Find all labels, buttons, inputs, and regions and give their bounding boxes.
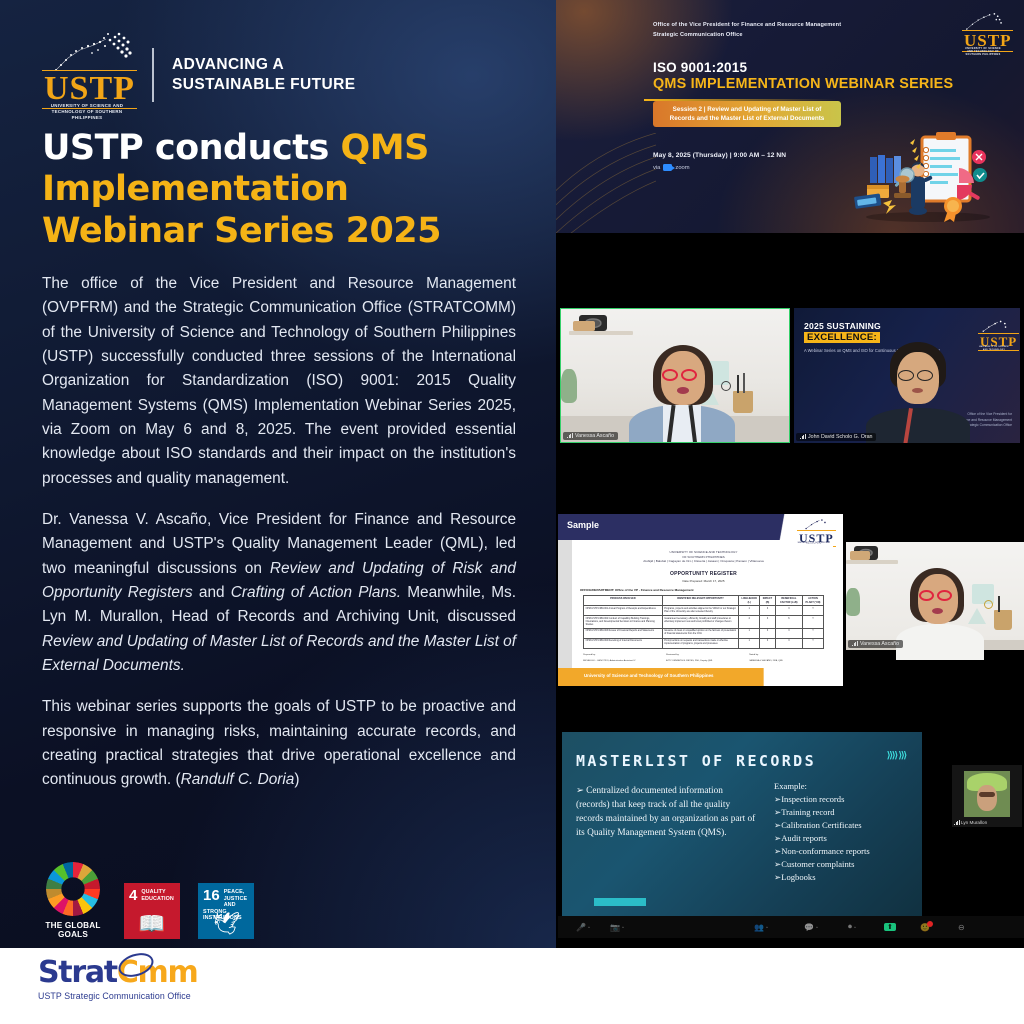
cell: 3 xyxy=(760,606,775,616)
shelf-prop xyxy=(569,331,633,335)
stratcomm-strat: Strat xyxy=(38,955,117,990)
speaker-3-torso xyxy=(896,624,984,660)
sign-noted-name: VANESSA V. ASCAÑO, DPA, QML xyxy=(749,660,783,662)
cell: Y xyxy=(803,638,824,648)
zoom-controls-bar[interactable]: 🎤^ 📷^ 👥^ 💬^ ⏺^ ⬆ 🙂 ⊖ xyxy=(558,916,1024,938)
cell: Y xyxy=(803,628,824,638)
poster-platform: via zoom xyxy=(653,164,690,171)
cell: Y xyxy=(803,606,824,616)
speaker-3-glasses xyxy=(919,590,952,601)
record-control[interactable]: ⏺^ xyxy=(848,922,856,932)
poster-via-label: via xyxy=(653,165,660,171)
col-1: IDENTIFIED RELEVANT OPPORTUNITY xyxy=(662,595,738,605)
video-thumb-lyn-murallon[interactable]: Lyn Murallon xyxy=(952,765,1022,827)
cell: Programs, projects and activities aligne… xyxy=(662,606,738,616)
signal-icon xyxy=(567,433,572,438)
cell: 6 xyxy=(775,616,802,629)
sign-prepared: Prepared by:MICHELLE L. GENOTIVO, Admini… xyxy=(583,654,658,664)
dove-gavel-icon: 🕊 xyxy=(198,913,254,935)
speaker-2-mouth xyxy=(912,388,923,393)
masterlist-examples: Example: ➢Inspection records ➢Training r… xyxy=(774,780,914,885)
speaker-3-figure xyxy=(890,566,988,654)
doc-title: OPPORTUNITY REGISTER xyxy=(574,571,833,577)
article-panel: USTP UNIVERSITY OF SCIENCE AND TECHNOLOG… xyxy=(0,0,556,948)
sdg-logo-row: THE GLOBAL GOALS 4 QUALITY EDUCATION 📖 1… xyxy=(40,862,254,939)
masterlist-title: MASTERLIST OF RECORDS xyxy=(576,752,816,770)
speaker-1-figure xyxy=(627,339,737,443)
sdg-goal-16-tile: 16 PEACE, JUSTICE AND STRONG INSTITUTION… xyxy=(198,883,254,939)
p2-text-2: and xyxy=(193,584,231,601)
notification-badge xyxy=(927,921,933,927)
ustp-brand-lockup: USTP UNIVERSITY OF SCIENCE AND TECHNOLOG… xyxy=(40,30,355,120)
table-row: OPM-USTP-FRM-003 Review of Financial Rep… xyxy=(584,628,824,638)
sdg-wheel-icon xyxy=(46,862,100,916)
chat-icon[interactable]: 💬 xyxy=(804,923,814,932)
sign-prepared-name: MICHELLE L. GENOTIVO, Administrative Ass… xyxy=(583,660,635,662)
slide-footer-band: University of Science and Technology of … xyxy=(558,668,843,686)
slide-footer-text: University of Science and Technology of … xyxy=(584,673,713,678)
brand-divider xyxy=(152,48,154,102)
stratcomm-subtitle: USTP Strategic Communication Office xyxy=(38,991,197,1001)
sdg-goal-4-tile: 4 QUALITY EDUCATION 📖 xyxy=(124,883,180,939)
doc-subtitle: Date Prepared: March 17, 2025 xyxy=(574,579,833,583)
example-item: ➢Calibration Certificates xyxy=(774,819,914,832)
contact-footer: StratCmm USTP Strategic Communication Of… xyxy=(0,948,1024,1024)
sign-reviewed-name: ATTY. KENNETH B. REYES, PhD, Deputy QML xyxy=(666,660,712,662)
speaker-1-name-badge: Vanessa Ascaño xyxy=(563,432,618,441)
poster-title: QMS IMPLEMENTATION WEBINAR SERIES xyxy=(653,76,953,92)
example-item: ➢Audit reports xyxy=(774,832,914,845)
cell: 3 xyxy=(760,638,775,648)
cell: Y xyxy=(803,616,824,629)
sign-prepared-label: Prepared by: xyxy=(583,654,596,656)
thumb-face xyxy=(977,785,997,811)
camera-off-icon[interactable]: 📷 xyxy=(610,923,620,932)
video-tile-speaker-2[interactable]: 2025 SUSTAINING EXCELLENCE: A Webinar Se… xyxy=(794,308,1020,443)
headline-white: USTP conducts xyxy=(42,128,341,168)
speaker-2-name-badge: John David Scholo G. Oran xyxy=(796,433,876,442)
share-screen-button[interactable]: ⬆ xyxy=(884,923,896,931)
cell: 1 xyxy=(739,628,760,638)
poster-session-badge: Session 2 | Review and Updating of Maste… xyxy=(653,101,841,127)
chat-control[interactable]: 💬^ xyxy=(804,923,818,932)
mute-control[interactable]: 🎤^ xyxy=(576,923,590,932)
infographic-page: USTP UNIVERSITY OF SCIENCE AND TECHNOLOG… xyxy=(0,0,1024,1024)
poster-kicker-2: Strategic Communication Office xyxy=(653,31,841,41)
masterlist-screenshare[interactable]: MASTERLIST OF RECORDS ⟩⟩⟩⟩ ⟩⟩⟩ ➢ Central… xyxy=(558,710,1024,938)
paragraph-2: Dr. Vanessa V. Ascaño, Vice President fo… xyxy=(42,508,516,678)
speaker-2-torso xyxy=(866,408,970,443)
table-header-row: PROCESS INVOLVED IDENTIFIED RELEVANT OPP… xyxy=(584,595,824,605)
paragraph-3: This webinar series supports the goals o… xyxy=(42,695,516,792)
article-body: The office of the Vice President and Res… xyxy=(42,272,516,810)
global-goals-label: THE GLOBAL GOALS xyxy=(40,921,106,939)
speaker-2-figure xyxy=(866,340,970,443)
slide-sample-label: Sample xyxy=(567,520,599,530)
cell: OPM-USTP-FRM-001 Annual Program of Recei… xyxy=(584,606,663,616)
speaker-2-glasses xyxy=(898,370,933,381)
zoom-icon xyxy=(663,164,672,171)
example-item: ➢Non-conformance reports xyxy=(774,845,914,858)
global-goals-logo: THE GLOBAL GOALS xyxy=(40,862,106,939)
masterlist-definition: ➢ Centralized documented information (re… xyxy=(576,784,756,841)
sdg-16-number: 16 xyxy=(203,888,220,903)
thumb-photo xyxy=(964,771,1010,817)
video-tile-speaker-3[interactable]: Vanessa Ascaño xyxy=(846,542,1024,694)
cell: Prompt actions on requests and transacti… xyxy=(662,638,738,648)
chevron-up-icon[interactable]: ^ xyxy=(622,925,624,930)
cell: 3 xyxy=(760,628,775,638)
sdg-4-number: 4 xyxy=(129,888,137,903)
sign-reviewed-label: Reviewed by: xyxy=(666,654,679,656)
cell: Guaranteed necessary, efficiently, broad… xyxy=(662,616,738,629)
poster-platform-name: zoom xyxy=(675,165,689,171)
signal-icon xyxy=(800,434,805,439)
brand-tagline: ADVANCING A SUSTAINABLE FUTURE xyxy=(172,55,355,96)
doc-org-block: UNIVERSITY OF SCIENCE AND TECHNOLOGY OF … xyxy=(574,550,833,564)
chevron-decoration-icon: ⟩⟩⟩⟩ ⟩⟩⟩ xyxy=(887,750,906,761)
speaker-2-name: John David Scholo G. Oran xyxy=(808,434,872,440)
basket-prop xyxy=(573,321,595,331)
more-icon[interactable]: ⊖ xyxy=(958,923,965,932)
ustp-logo-subtitle: UNIVERSITY OF SCIENCE AND TECHNOLOGY OF … xyxy=(42,103,132,121)
poster-ustp-logo: USTP UNIVERSITY OF SCIENCE AND TECHNOLOG… xyxy=(960,10,1004,52)
pen-prop xyxy=(737,375,739,393)
example-item: ➢Logbooks xyxy=(774,871,914,884)
pencil-prop xyxy=(743,373,745,393)
thumb-name-badge: Lyn Murallon xyxy=(954,820,987,825)
paragraph-1: The office of the Vice President and Res… xyxy=(42,272,516,491)
participants-icon[interactable]: 👥 xyxy=(754,923,764,932)
poster-illustration xyxy=(850,123,996,223)
document-page: UNIVERSITY OF SCIENCE AND TECHNOLOGY OF … xyxy=(574,544,833,666)
col-2: LIKELIHOOD (L) xyxy=(739,595,760,605)
doc-signature-row: Prepared by:MICHELLE L. GENOTIVO, Admini… xyxy=(583,654,824,664)
masterlist-slide: MASTERLIST OF RECORDS ⟩⟩⟩⟩ ⟩⟩⟩ ➢ Central… xyxy=(562,732,922,928)
reactions-control[interactable]: 🙂 xyxy=(920,923,930,932)
examples-header: Example: xyxy=(774,780,914,793)
chevron-up-icon[interactable]: ^ xyxy=(766,925,768,930)
col-0: PROCESS INVOLVED xyxy=(584,595,663,605)
tagline-line-2: SUSTAINABLE FUTURE xyxy=(172,75,355,95)
example-item: ➢Inspection records xyxy=(774,793,914,806)
cell: 3 xyxy=(775,638,802,648)
plant-prop xyxy=(846,588,860,616)
cell: 1 xyxy=(739,638,760,648)
slide-dotmap-icon xyxy=(800,517,828,531)
cell: 3 xyxy=(760,616,775,629)
p3-credit: Randulf C. Doria xyxy=(181,771,295,788)
video-tile-speaker-1[interactable]: Vanessa Ascaño xyxy=(560,308,790,443)
poster-dotmap-icon xyxy=(962,10,1002,32)
webinar-poster: Office of the Vice President for Finance… xyxy=(556,0,1024,233)
ustp-logo: USTP UNIVERSITY OF SCIENCE AND TECHNOLOG… xyxy=(40,30,132,120)
cell: OPM-USTP-FRM-002 Conduct of Capability B… xyxy=(584,616,663,629)
participants-control[interactable]: 👥^ xyxy=(754,923,768,932)
video-control[interactable]: 📷^ xyxy=(610,923,624,932)
cell: 3 xyxy=(775,606,802,616)
poster-kicker: Office of the Vice President for Finance… xyxy=(653,21,841,41)
p2-italic-3: Review and Updating of Master List of Re… xyxy=(42,633,516,674)
pen-cup-prop xyxy=(994,610,1012,630)
poster-datetime: May 8, 2025 (Thursday) | 9:00 AM – 12 NN xyxy=(653,152,786,159)
virtual-bg-ustp-logo: USTP UNIVERSITY OF SCIENCE AND TECHNOLOG… xyxy=(976,318,1010,350)
stratcomm-logo: StratCmm USTP Strategic Communication Of… xyxy=(38,958,197,1001)
cell: OPM-USTP-FRM-004 Receiving of Internal D… xyxy=(584,638,663,648)
signal-icon xyxy=(852,641,857,646)
speaker-1-glasses xyxy=(662,369,697,381)
doc-org-3: Alubijid | Balubal | Cagayan de Oro | Cl… xyxy=(574,559,833,564)
example-item: ➢Training record xyxy=(774,806,914,819)
poster-kicker-1: Office of the Vice President for Finance… xyxy=(653,21,841,31)
col-4: BENEFICIAL FACTOR (LxB) xyxy=(775,595,802,605)
cell: OPM-USTP-FRM-003 Review of Financial Rep… xyxy=(584,628,663,638)
p3-close: ) xyxy=(294,771,299,788)
decorative-arcs xyxy=(556,133,656,233)
signal-icon xyxy=(954,820,959,825)
plant-prop xyxy=(561,369,577,403)
microphone-icon[interactable]: 🎤 xyxy=(576,923,586,932)
open-book-icon: 📖 xyxy=(124,913,180,935)
table-row: OPM-USTP-FRM-004 Receiving of Internal D… xyxy=(584,638,824,648)
cell: Issuance of clean or unqualified opinion… xyxy=(662,628,738,638)
speaker-3-name: Vanessa Ascaño xyxy=(860,641,899,647)
stratcomm-wordmark: StratCmm xyxy=(38,955,197,990)
cell: 2 xyxy=(739,616,760,629)
poster-ustp-subtitle: UNIVERSITY OF SCIENCE AND TECHNOLOGY OF … xyxy=(962,47,1004,57)
tagline-line-1: ADVANCING A xyxy=(172,55,355,75)
video-strip: Vanessa Ascaño 2025 SUSTAINING EXCELLENC… xyxy=(556,298,1024,453)
col-5: ACTION PLAN? (Y/N) xyxy=(803,595,824,605)
chevron-up-icon[interactable]: ^ xyxy=(816,925,818,930)
doc-department: OFFICE/DEPARTMENT: Office of the VP - Fi… xyxy=(580,588,833,592)
col-3: IMPACT (B) xyxy=(760,595,775,605)
slide-ustp-logo: USTP UNIVERSITY OF SCIENCE AND TECHNOLOG… xyxy=(795,517,831,547)
thumb-name: Lyn Murallon xyxy=(961,820,987,825)
virtual-bg-line-1: 2025 SUSTAINING xyxy=(804,321,881,331)
slide-left-margin xyxy=(558,540,572,668)
example-item: ➢Customer complaints xyxy=(774,858,914,871)
pen-prop xyxy=(998,596,1000,612)
slide-accent-bar xyxy=(594,898,646,906)
media-column: Office of the Vice President for Finance… xyxy=(556,0,1024,948)
chevron-up-icon[interactable]: ^ xyxy=(854,925,856,930)
table-row: OPM-USTP-FRM-001 Annual Program of Recei… xyxy=(584,606,824,616)
vb-dotmap-icon xyxy=(978,318,1008,334)
speaker-3-name-badge: Vanessa Ascaño xyxy=(848,640,903,649)
basket-prop xyxy=(850,551,870,560)
speaker-1-mouth xyxy=(677,387,689,394)
cell: 3 xyxy=(775,628,802,638)
chevron-up-icon[interactable]: ^ xyxy=(588,925,590,930)
shared-screen-document-slide[interactable]: Sample USTP UNIVERSITY OF SCIENCE AND TE… xyxy=(558,514,843,686)
p2-italic-2: Crafting of Action Plans. xyxy=(231,584,401,601)
sign-noted-label: Noted by: xyxy=(749,654,758,656)
record-icon[interactable]: ⏺ xyxy=(848,922,852,932)
speaker-1-name: Vanessa Ascaño xyxy=(575,433,614,439)
sign-noted: Noted by:VANESSA V. ASCAÑO, DPA, QML xyxy=(749,654,824,664)
sign-reviewed: Reviewed by:ATTY. KENNETH B. REYES, PhD,… xyxy=(666,654,741,664)
poster-iso-standard: ISO 9001:2015 xyxy=(653,60,747,75)
vb-ustp-subtitle: UNIVERSITY OF SCIENCE AND TECHNOLOGY xyxy=(978,346,1010,351)
cell: 1 xyxy=(739,606,760,616)
opportunity-register-table: PROCESS INVOLVED IDENTIFIED RELEVANT OPP… xyxy=(583,595,824,649)
shelf-prop xyxy=(846,560,898,564)
sunglasses-icon xyxy=(979,792,995,797)
speaker-3-mouth xyxy=(932,608,943,614)
more-control[interactable]: ⊖ xyxy=(958,923,965,932)
page-title: USTP conducts QMS Implementation Webinar… xyxy=(42,128,512,252)
table-row: OPM-USTP-FRM-002 Conduct of Capability B… xyxy=(584,616,824,629)
